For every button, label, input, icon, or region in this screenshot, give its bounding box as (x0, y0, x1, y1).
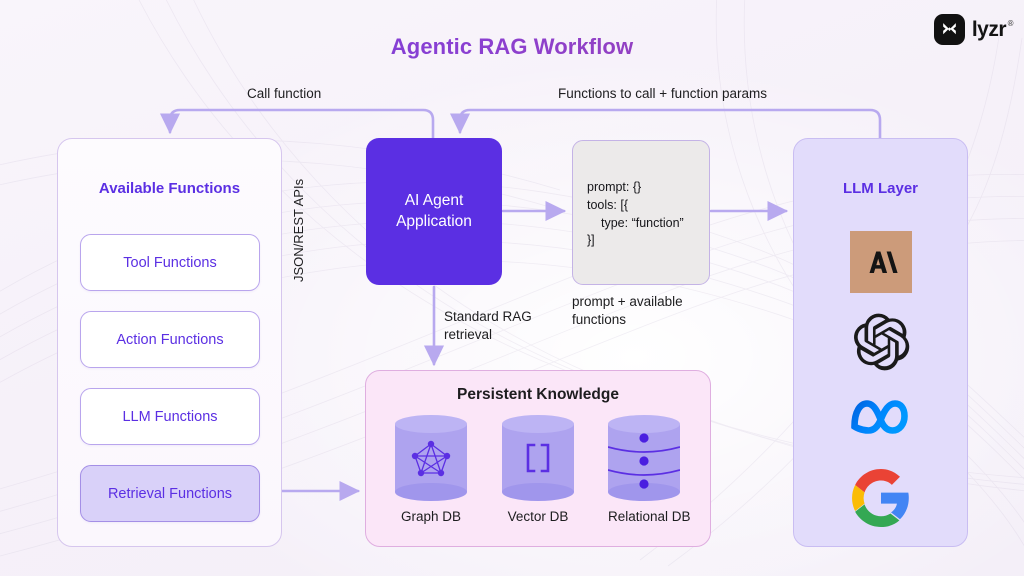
function-box-action[interactable]: Action Functions (80, 311, 260, 368)
code-line-tools: tools: [{ (587, 197, 709, 215)
panel-title-persistent-knowledge: Persistent Knowledge (366, 386, 710, 404)
label-json-rest-apis: JSON/REST APIs (291, 179, 306, 282)
prompt-payload-caption: prompt + available functions (572, 293, 722, 329)
ai-agent-application-node[interactable]: AI Agent Application (366, 138, 502, 285)
stacked-disks-icon (608, 415, 680, 500)
label-call-function: Call function (247, 85, 321, 103)
function-label: Tool Functions (123, 255, 217, 271)
brand-trademark: ® (1008, 19, 1013, 28)
graph-network-icon (395, 415, 467, 500)
datastore-label: Graph DB (395, 509, 467, 524)
code-line-prompt: prompt: {} (587, 179, 709, 197)
code-line-type: type: “function” (587, 215, 709, 233)
label-functions-to-call: Functions to call + function params (558, 85, 767, 103)
agent-title-line1: AI Agent (396, 191, 472, 212)
lyzr-butterfly-icon (934, 14, 965, 45)
label-standard-rag: Standard RAG retrieval (444, 308, 554, 344)
panel-llm-layer: LLM Layer (793, 138, 968, 547)
panel-title-available-functions: Available Functions (58, 180, 281, 197)
agent-title-line2: Application (396, 212, 472, 233)
brackets-icon (502, 415, 574, 500)
brand-logo: lyzr® (934, 14, 1006, 45)
brand-wordmark: lyzr® (972, 18, 1006, 42)
page-title: Agentic RAG Workflow (0, 34, 1024, 60)
datastore-graph-db[interactable]: Graph DB (395, 415, 467, 524)
panel-available-functions: Available Functions Tool Functions Actio… (57, 138, 282, 547)
function-box-tool[interactable]: Tool Functions (80, 234, 260, 291)
openai-logo (850, 311, 912, 373)
anthropic-logo (850, 231, 912, 293)
cylinder-shape (608, 415, 680, 500)
meta-logo (848, 393, 914, 441)
function-box-llm[interactable]: LLM Functions (80, 388, 260, 445)
cylinder-shape (395, 415, 467, 500)
datastore-relational-db[interactable]: Relational DB (608, 415, 680, 524)
code-line-close: }] (587, 232, 709, 250)
function-label: LLM Functions (122, 409, 217, 425)
function-label: Action Functions (116, 332, 223, 348)
function-box-retrieval[interactable]: Retrieval Functions (80, 465, 260, 522)
google-logo (852, 469, 910, 527)
diagram-canvas: Agentic RAG Workflow Call function Funct… (0, 0, 1024, 576)
function-label: Retrieval Functions (108, 486, 232, 502)
panel-title-llm-layer: LLM Layer (794, 180, 967, 197)
datastore-vector-db[interactable]: Vector DB (502, 415, 574, 524)
wire-call-function (170, 110, 433, 138)
prompt-payload-box: prompt: {} tools: [{ type: “function” }] (572, 140, 710, 285)
brand-name: lyzr (972, 18, 1006, 41)
datastore-label: Relational DB (608, 509, 680, 524)
wire-functions-to-call (460, 110, 880, 138)
cylinder-shape (502, 415, 574, 500)
datastore-label: Vector DB (502, 509, 574, 524)
